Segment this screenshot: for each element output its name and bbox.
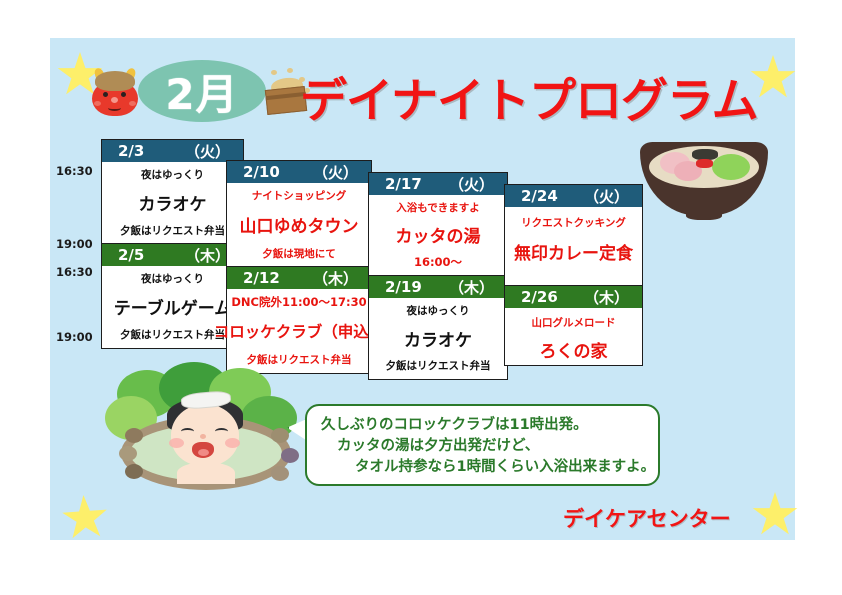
card-date-2-5: 2/5	[118, 246, 144, 264]
card-weekday-2-19: （木）	[449, 277, 494, 298]
card-activity-2-17: カッタの湯	[396, 222, 481, 247]
card-body-2-12: DNC院外11:00〜17:30 コロッケクラブ（申込） 夕飯はリクエスト弁当	[227, 289, 371, 371]
rock-6	[271, 466, 289, 481]
bean-1	[271, 70, 277, 75]
bather-eye-right	[215, 428, 228, 435]
bubble-line-2: カッタの湯は夕方出発だけど、	[321, 436, 648, 457]
card-activity-2-26: ろくの家	[540, 337, 608, 362]
bather-blush-right	[225, 438, 240, 448]
time-label-2: 19:00	[56, 237, 93, 251]
card-subbottom-2-5: 夕飯はリクエスト弁当	[120, 327, 225, 342]
schedule-card-2-17[interactable]: 2/17 （火） 入浴もできますよ カッタの湯 16:00〜	[368, 172, 508, 277]
oni-hair	[95, 71, 135, 91]
card-subtop-2-12: DNC院外11:00〜17:30	[231, 294, 366, 310]
oni-cheek-right	[129, 101, 136, 106]
card-date-2-3: 2/3	[118, 142, 144, 160]
card-subtop-2-17: 入浴もできますよ	[396, 200, 480, 215]
ramen-bowl-foot	[686, 210, 722, 220]
red-oni-face-icon	[88, 68, 144, 118]
bubble-line-3: タオル持参なら1時間くらい入浴出来ますよ。	[321, 457, 648, 478]
card-header-2-12: 2/12 （木）	[227, 267, 371, 289]
card-weekday-2-5: （木）	[185, 245, 230, 266]
speech-bubble: 久しぶりのコロッケクラブは11時出発。 カッタの湯は夕方出発だけど、 タオル持参…	[305, 404, 660, 486]
card-body-2-24: リクエストクッキング 無印カレー定食	[505, 207, 642, 284]
rock-3	[125, 464, 143, 479]
card-date-2-24: 2/24	[521, 187, 558, 205]
card-date-2-19: 2/19	[385, 278, 422, 296]
card-weekday-2-17: （火）	[449, 174, 494, 195]
card-activity-2-12: コロッケクラブ（申込）	[214, 320, 385, 342]
card-weekday-2-3: （火）	[185, 141, 230, 162]
card-subbottom-2-10: 夕飯は現地にて	[262, 246, 336, 261]
card-date-2-10: 2/10	[243, 163, 280, 181]
rock-1	[125, 428, 143, 443]
footer-organization-name: デイケアセンター	[563, 503, 731, 533]
card-activity-2-19: カラオケ	[404, 326, 472, 351]
card-subbottom-2-19: 夕飯はリクエスト弁当	[386, 358, 491, 373]
schedule-card-2-10[interactable]: 2/10 （火） ナイトショッピング 山口ゆめタウン 夕飯は現地にて	[226, 160, 372, 268]
card-subtop-2-19: 夜はゆっくり	[407, 303, 470, 318]
card-body-2-26: 山口グルメロード ろくの家	[505, 308, 642, 364]
ramen-beni-shoga	[696, 159, 713, 168]
card-subtop-2-3: 夜はゆっくり	[141, 167, 204, 182]
card-date-2-17: 2/17	[385, 175, 422, 193]
time-label-1: 16:30	[56, 164, 93, 178]
card-subtop-2-10: ナイトショッピング	[252, 188, 347, 203]
card-body-2-10: ナイトショッピング 山口ゆめタウン 夕飯は現地にて	[227, 183, 371, 265]
schedule-card-2-19[interactable]: 2/19 （木） 夜はゆっくり カラオケ 夕飯はリクエスト弁当	[368, 275, 508, 380]
time-label-4: 19:00	[56, 330, 93, 344]
card-subtop-2-24: リクエストクッキング	[521, 215, 626, 230]
card-subbottom-2-3: 夕飯はリクエスト弁当	[120, 223, 225, 238]
schedule-card-2-26[interactable]: 2/26 （木） 山口グルメロード ろくの家	[504, 285, 643, 366]
card-header-2-26: 2/26 （木）	[505, 286, 642, 308]
rock-2	[119, 446, 137, 461]
rock-5	[281, 448, 299, 463]
oni-nose	[111, 97, 118, 103]
month-label: 2月	[138, 60, 266, 122]
card-header-2-3: 2/3 （火）	[102, 140, 243, 162]
oni-cheek-left	[94, 101, 101, 106]
poster-canvas: 2月 デイナイトプログラム 16:30 19:00 16:30 19:00 2/…	[0, 0, 842, 595]
card-weekday-2-24: （火）	[584, 186, 629, 207]
card-subtop-2-26: 山口グルメロード	[532, 315, 616, 330]
oni-eye-right	[121, 92, 126, 97]
card-activity-2-5: テーブルゲーム	[114, 294, 231, 319]
bean-2	[287, 68, 293, 73]
page-title: デイナイトプログラム	[300, 62, 758, 131]
card-weekday-2-10: （火）	[313, 162, 358, 183]
card-subbottom-2-17: 16:00〜	[414, 254, 462, 270]
ramen-green-onion	[712, 154, 750, 180]
card-weekday-2-26: （木）	[584, 287, 629, 308]
open-air-hot-spring-icon	[105, 362, 310, 492]
schedule-card-2-12[interactable]: 2/12 （木） DNC院外11:00〜17:30 コロッケクラブ（申込） 夕飯…	[226, 266, 372, 374]
card-body-2-17: 入浴もできますよ カッタの湯 16:00〜	[369, 195, 507, 274]
rock-4	[271, 428, 289, 443]
bubble-line-1: 久しぶりのコロッケクラブは11時出発。	[321, 415, 648, 436]
card-body-2-3: 夜はゆっくり カラオケ 夕飯はリクエスト弁当	[102, 162, 243, 242]
card-weekday-2-12: （木）	[313, 268, 358, 289]
oni-mouth	[108, 105, 121, 111]
card-date-2-26: 2/26	[521, 288, 558, 306]
bather-nose	[200, 434, 206, 439]
schedule-card-2-24[interactable]: 2/24 （火） リクエストクッキング 無印カレー定食	[504, 184, 643, 287]
schedule-card-2-3[interactable]: 2/3 （火） 夜はゆっくり カラオケ 夕飯はリクエスト弁当	[101, 139, 244, 245]
card-header-2-17: 2/17 （火）	[369, 173, 507, 195]
bather-tongue	[198, 449, 209, 456]
card-activity-2-10: 山口ゆめタウン	[240, 212, 359, 237]
card-date-2-12: 2/12	[243, 269, 280, 287]
card-body-2-19: 夜はゆっくり カラオケ 夕飯はリクエスト弁当	[369, 298, 507, 377]
card-activity-2-3: カラオケ	[139, 190, 207, 215]
card-header-2-24: 2/24 （火）	[505, 185, 642, 207]
card-header-2-5: 2/5 （木）	[102, 244, 243, 266]
oni-eye-left	[103, 92, 108, 97]
time-label-3: 16:30	[56, 265, 93, 279]
ramen-bowl-icon	[640, 132, 768, 224]
card-header-2-19: 2/19 （木）	[369, 276, 507, 298]
card-activity-2-24: 無印カレー定食	[514, 239, 633, 264]
card-subtop-2-5: 夜はゆっくり	[141, 271, 204, 286]
card-header-2-10: 2/10 （火）	[227, 161, 371, 183]
bather-eye-left	[181, 428, 194, 435]
bather-blush-left	[169, 438, 184, 448]
